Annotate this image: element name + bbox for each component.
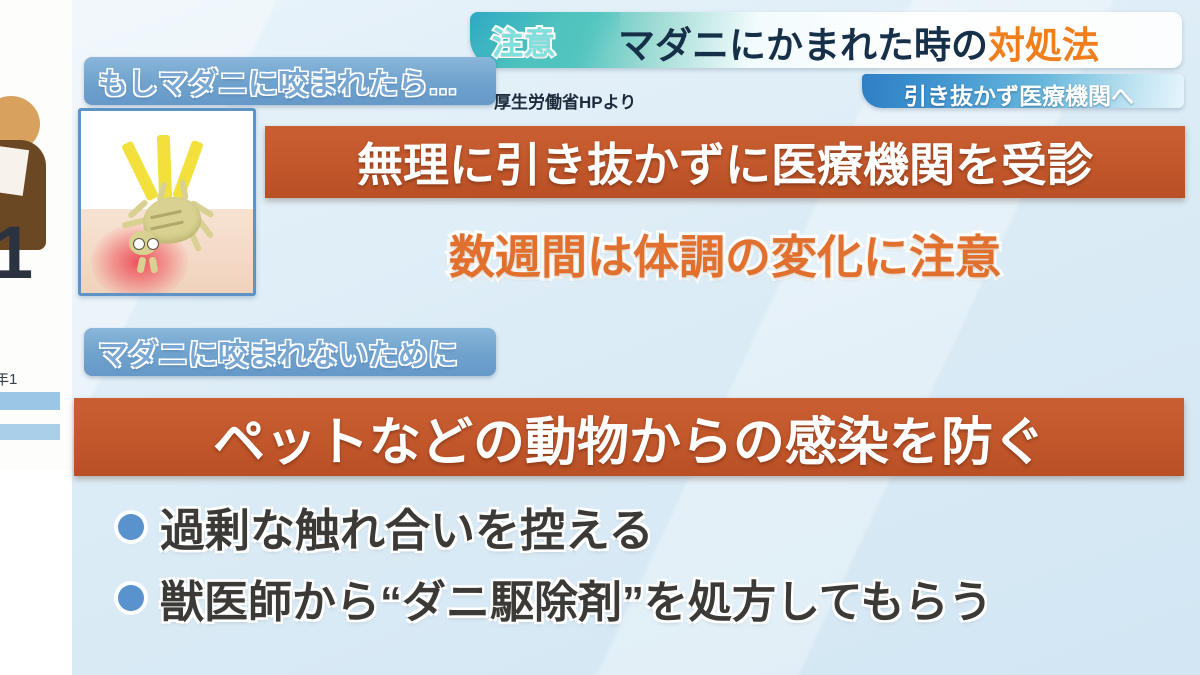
tick-eye (133, 238, 145, 250)
section-label-prevention: マダニに咬まれないために (84, 328, 496, 376)
section-label-prevention-text: マダニに咬まれないために (84, 330, 472, 374)
sub-banner-text: 引き抜かず医療機関へ (904, 77, 1134, 108)
background-white-area (0, 470, 72, 675)
headline-bar-seek-care: 無理に引き抜かずに医療機関を受診 (265, 126, 1185, 198)
bullet-dot-icon (118, 585, 144, 611)
background-small-text: 年1 (0, 368, 17, 389)
bullet-dot-icon (118, 514, 144, 540)
headline-bar-prevent-pets: ペットなどの動物からの感染を防ぐ (74, 398, 1184, 476)
background-video-layer: 1 年1 (0, 0, 72, 675)
background-big-number: 1 (0, 210, 31, 295)
list-item-label: 獣医師から“ダニ駆除剤”を処方してもらう (160, 566, 992, 630)
headline-watch-symptoms-text: 数週間は体調の変化に注意 (449, 221, 1001, 287)
list-item-label: 過剰な触れ合いを控える (160, 494, 654, 559)
background-strip-lower (0, 424, 60, 440)
page-title: マダニにかまれた時の対処法 (618, 15, 1099, 68)
section-label-if-bitten-text: もしマダニに咬まれたら… (84, 59, 472, 103)
title-accent-text: 対処法 (988, 25, 1099, 66)
headline-bar-prevent-pets-text: ペットなどの動物からの感染を防ぐ (213, 400, 1045, 475)
list-item: 過剰な触れ合いを控える (118, 494, 654, 559)
headline-watch-symptoms: 数週間は体調の変化に注意 (265, 222, 1185, 286)
broadcast-graphic-screen: 1 年1 注意 マダニにかまれた時の対処法 引き抜かず医療機関へ もしマダニに咬… (0, 0, 1200, 675)
alert-ray-icon (121, 141, 159, 202)
source-credit: 厚生労働省HPより (494, 88, 636, 113)
background-strip-upper (0, 392, 60, 410)
alert-ray-icon (173, 140, 205, 200)
header-banner: 注意 マダニにかまれた時の対処法 (470, 12, 1182, 68)
title-main-text: マダニにかまれた時の (618, 25, 988, 66)
sub-banner: 引き抜かず医療機関へ (862, 74, 1184, 108)
list-item: 獣医師から“ダニ駆除剤”を処方してもらう (118, 566, 992, 630)
section-label-if-bitten: もしマダニに咬まれたら… (84, 57, 496, 105)
caution-badge: 注意 (492, 18, 556, 63)
tick-illustration (78, 108, 256, 296)
headline-bar-seek-care-text: 無理に引き抜かずに医療機関を受診 (357, 129, 1093, 195)
